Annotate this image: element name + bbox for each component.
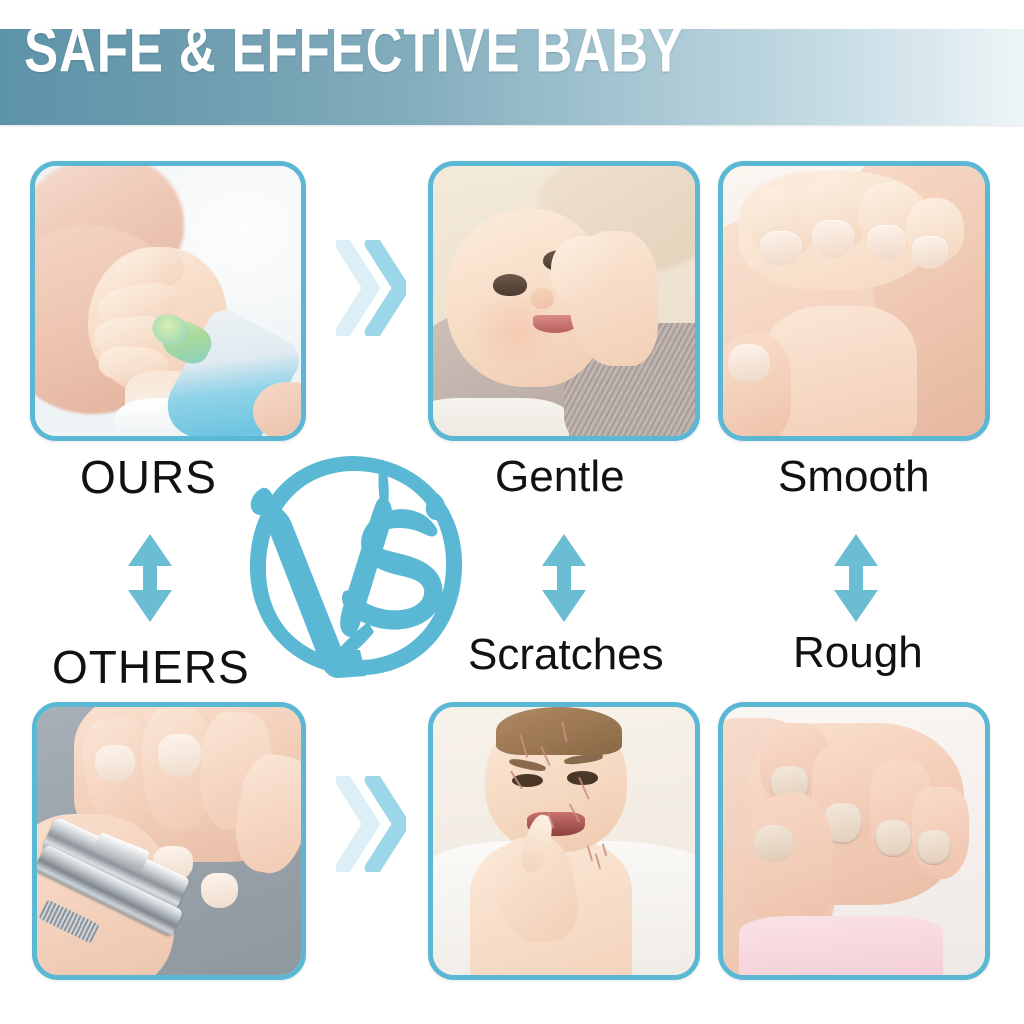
photo-panel-smooth-nails [718,161,990,441]
baby-hair-shape [496,707,622,755]
double-arrow-icon-gentle [540,532,588,624]
vs-logo [234,444,474,688]
label-others: OTHERS [52,640,250,694]
smooth-nail-shape [912,236,949,268]
photo-rough-nails [723,707,985,975]
chevron-right-icon-bottom [336,776,406,872]
baby-fist-shape [551,236,619,306]
photo-panel-ours-trimmer [30,161,306,441]
page-title-text: SAFE & EFFECTIVE BABY [24,13,684,87]
rough-nail-shape [917,830,951,865]
pink-sleeve-shape [739,916,943,975]
rough-nail-shape [875,820,912,858]
photo-panel-others-clipper [32,702,306,980]
header-banner: SAFE & EFFECTIVE BABY [0,29,1024,125]
page-title: SAFE & EFFECTIVE BABY [24,39,849,113]
sheet-shape [433,398,569,436]
label-rough: Rough [793,628,923,678]
photo-ours-trimmer [35,166,301,436]
label-smooth: Smooth [778,452,930,502]
label-scratches: Scratches [468,630,664,680]
photo-others-clipper [37,707,301,975]
fingernail-shape [201,873,238,908]
label-gentle: Gentle [495,452,625,502]
photo-scratches-baby [433,707,695,975]
fingernail-shape [158,734,200,777]
smooth-nail-shape [812,220,854,258]
photo-panel-scratches-baby [428,702,700,980]
smooth-nail-shape [760,231,802,266]
double-arrow-icon-smooth [832,532,880,624]
photo-panel-gentle-baby [428,161,700,441]
label-ours: OURS [80,450,217,504]
photo-smooth-nails [723,166,985,436]
chevron-right-icon-top [336,240,406,336]
adult-nail-shape [728,344,770,382]
double-arrow-icon-ours [126,532,174,624]
promo-graphic: SAFE & EFFECTIVE BABY [0,0,1024,1024]
baby-nose-shape [530,288,554,310]
photo-panel-rough-nails [718,702,990,980]
rough-nail-shape [754,825,793,863]
baby-eye-left [493,274,527,296]
fingernail-shape [95,745,135,783]
photo-gentle-baby [433,166,695,436]
